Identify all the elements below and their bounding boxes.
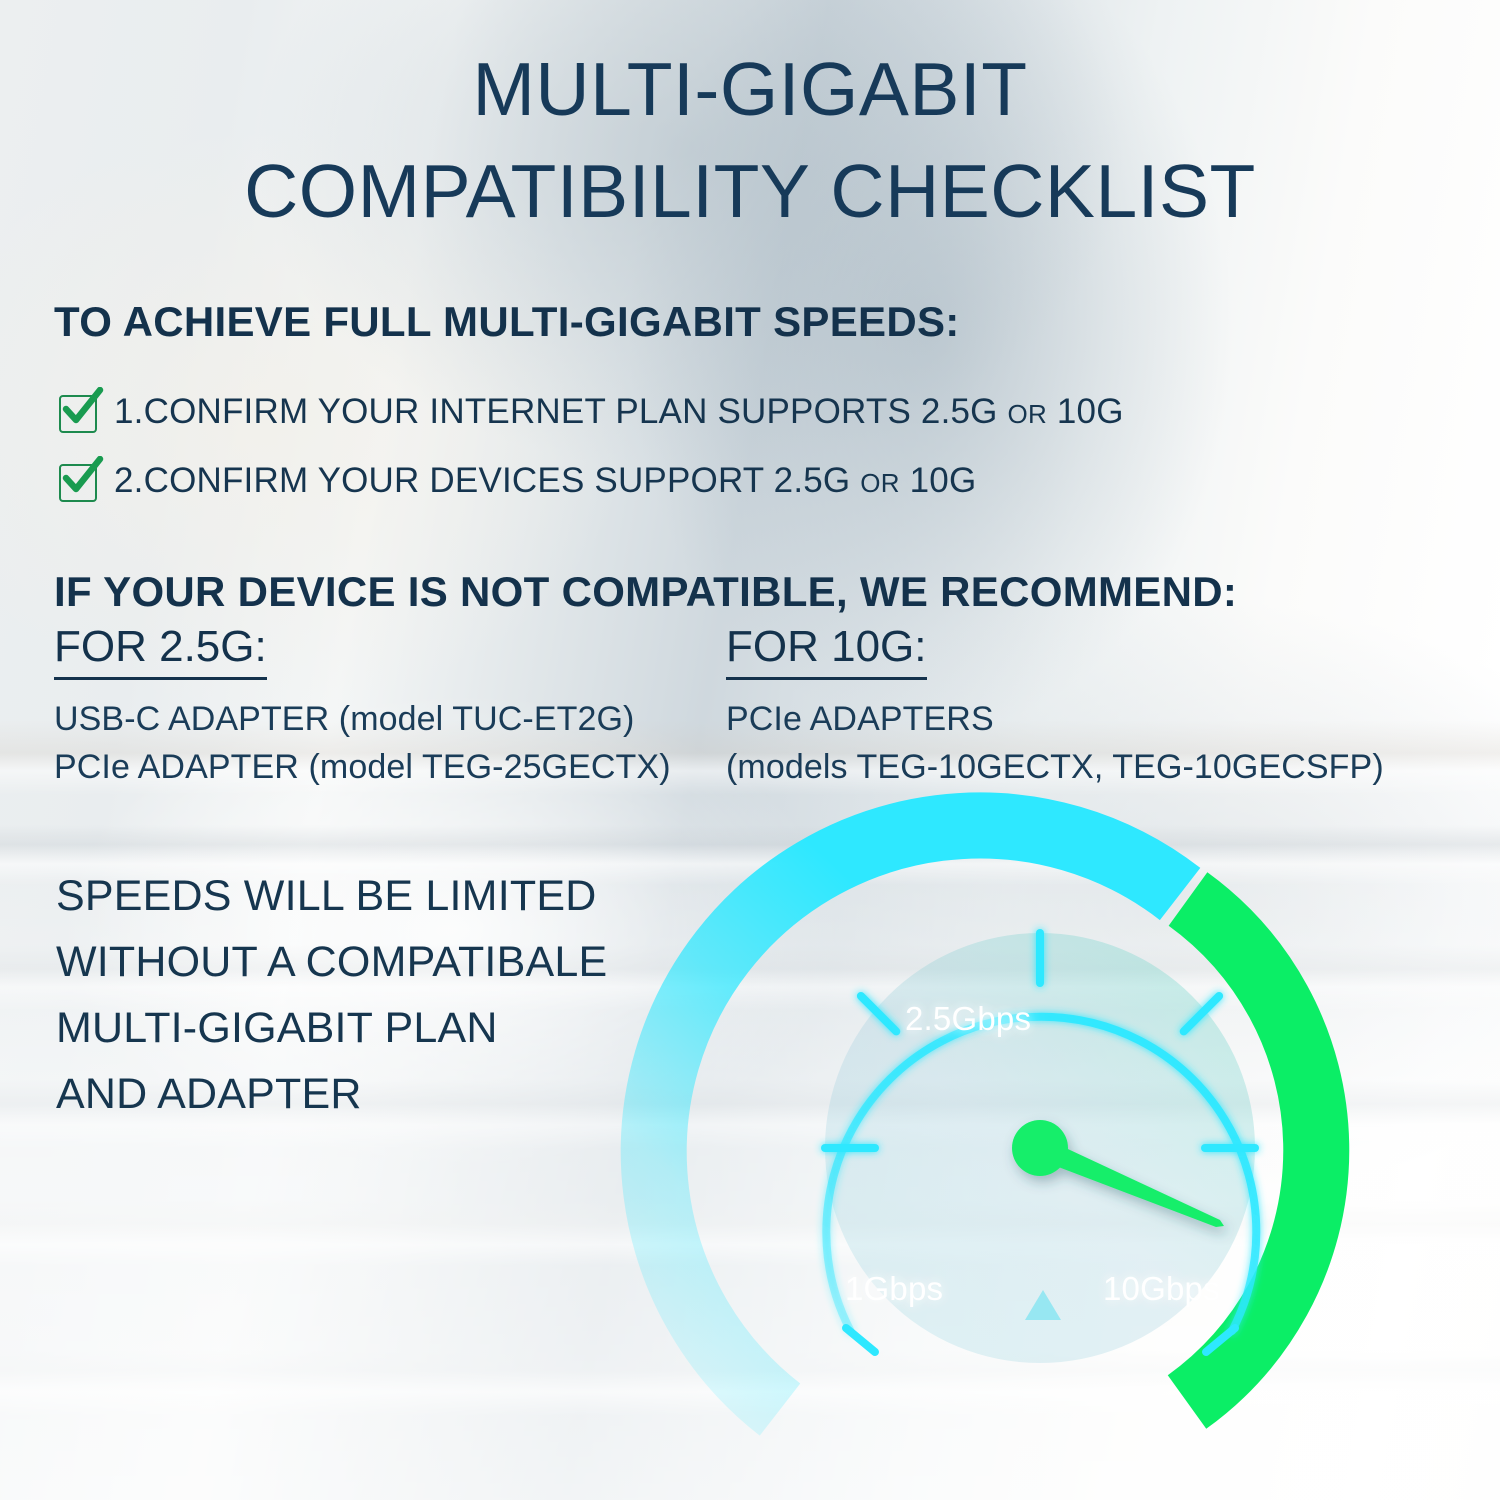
gauge-label-min: 1Gbps	[845, 1270, 943, 1308]
column-10g-line-2: (models TEG-10GECTX, TEG-10GECSFP)	[726, 748, 1384, 787]
gauge-svg	[660, 790, 1360, 1490]
column-10g-line-1: PCIe ADAPTERS	[726, 700, 994, 739]
gauge-inner-ring-end-left	[846, 1328, 875, 1352]
infographic-root: MULTI-GIGABIT COMPATIBILITY CHECKLIST TO…	[0, 0, 1500, 1500]
checklist-item-1-main: 1.CONFIRM YOUR INTERNET PLAN SUPPORTS 2.…	[114, 392, 998, 431]
checkbox-checked-icon[interactable]	[56, 459, 100, 503]
checklist-item-2-or: OR	[860, 468, 899, 498]
note-line-1: SPEEDS WILL BE LIMITED	[56, 872, 596, 921]
note-line-4: AND ADAPTER	[56, 1070, 362, 1119]
column-heading-25g: FOR 2.5G:	[54, 622, 267, 680]
checkbox-checked-icon[interactable]	[56, 390, 100, 434]
checklist-item-2-tail: 10G	[910, 461, 977, 500]
checklist-item-2-label: 2.CONFIRM YOUR DEVICES SUPPORT 2.5G OR 1…	[114, 461, 976, 501]
gauge-label-mid: 2.5Gbps	[905, 1000, 1031, 1038]
checklist-item-2[interactable]: 2.CONFIRM YOUR DEVICES SUPPORT 2.5G OR 1…	[56, 459, 976, 503]
page-title-line-1: MULTI-GIGABIT	[0, 46, 1500, 132]
gauge-label-max: 10Gbps	[1103, 1270, 1220, 1308]
checklist-item-1-tail: 10G	[1057, 392, 1124, 431]
section-heading-speeds: TO ACHIEVE FULL MULTI-GIGABIT SPEEDS:	[54, 298, 960, 346]
note-line-2: WITHOUT A COMPATIBALE	[56, 938, 607, 987]
checklist-item-1[interactable]: 1.CONFIRM YOUR INTERNET PLAN SUPPORTS 2.…	[56, 390, 1124, 434]
gauge-needle-hub	[1012, 1120, 1068, 1176]
checklist-item-1-label: 1.CONFIRM YOUR INTERNET PLAN SUPPORTS 2.…	[114, 392, 1124, 432]
speedometer-gauge	[660, 790, 1360, 1490]
check-mark-icon	[60, 387, 104, 431]
page-title-line-2: COMPATIBILITY CHECKLIST	[0, 148, 1500, 234]
column-25g-line-1: USB-C ADAPTER (model TUC-ET2G)	[54, 700, 634, 739]
checklist-item-1-or: OR	[1008, 399, 1047, 429]
checklist-item-2-main: 2.CONFIRM YOUR DEVICES SUPPORT 2.5G	[114, 461, 850, 500]
note-line-3: MULTI-GIGABIT PLAN	[56, 1004, 498, 1053]
check-mark-icon	[60, 456, 104, 500]
section-heading-recommend: IF YOUR DEVICE IS NOT COMPATIBLE, WE REC…	[54, 568, 1237, 616]
column-heading-10g: FOR 10G:	[726, 622, 927, 680]
column-25g-line-2: PCIe ADAPTER (model TEG-25GECTX)	[54, 748, 671, 787]
